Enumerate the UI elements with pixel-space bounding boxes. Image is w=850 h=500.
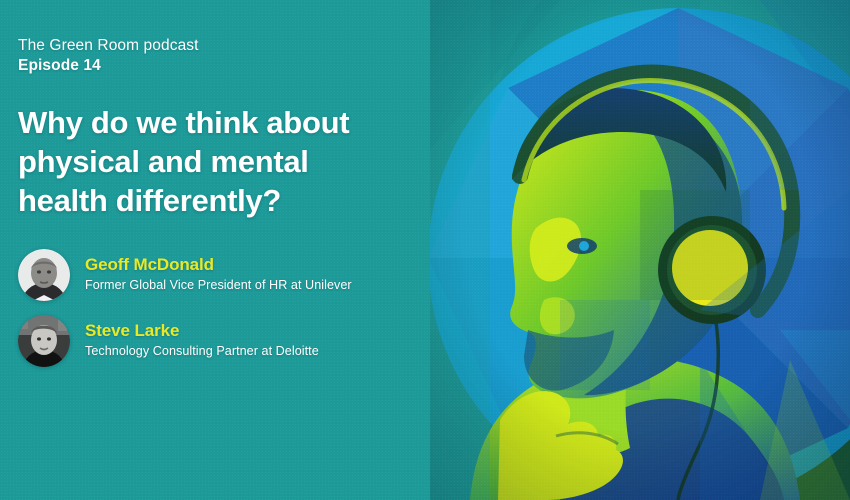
text-column: The Green Room podcast Episode 14 Why do… — [18, 0, 448, 500]
speaker-role: Technology Consulting Partner at Deloitt… — [85, 343, 319, 360]
speaker-name: Steve Larke — [85, 321, 319, 341]
speaker-name: Geoff McDonald — [85, 255, 352, 275]
episode-label: Episode 14 — [18, 56, 448, 76]
series-name: The Green Room podcast — [18, 36, 448, 55]
avatar — [18, 315, 70, 367]
speaker-list: Geoff McDonald Former Global Vice Presid… — [18, 249, 448, 367]
list-item: Geoff McDonald Former Global Vice Presid… — [18, 249, 448, 301]
speaker-role: Former Global Vice President of HR at Un… — [85, 277, 352, 294]
avatar — [18, 249, 70, 301]
list-item: Steve Larke Technology Consulting Partne… — [18, 315, 448, 367]
podcast-episode-card: The Green Room podcast Episode 14 Why do… — [0, 0, 850, 500]
page-title: Why do we think about physical and menta… — [18, 103, 378, 221]
